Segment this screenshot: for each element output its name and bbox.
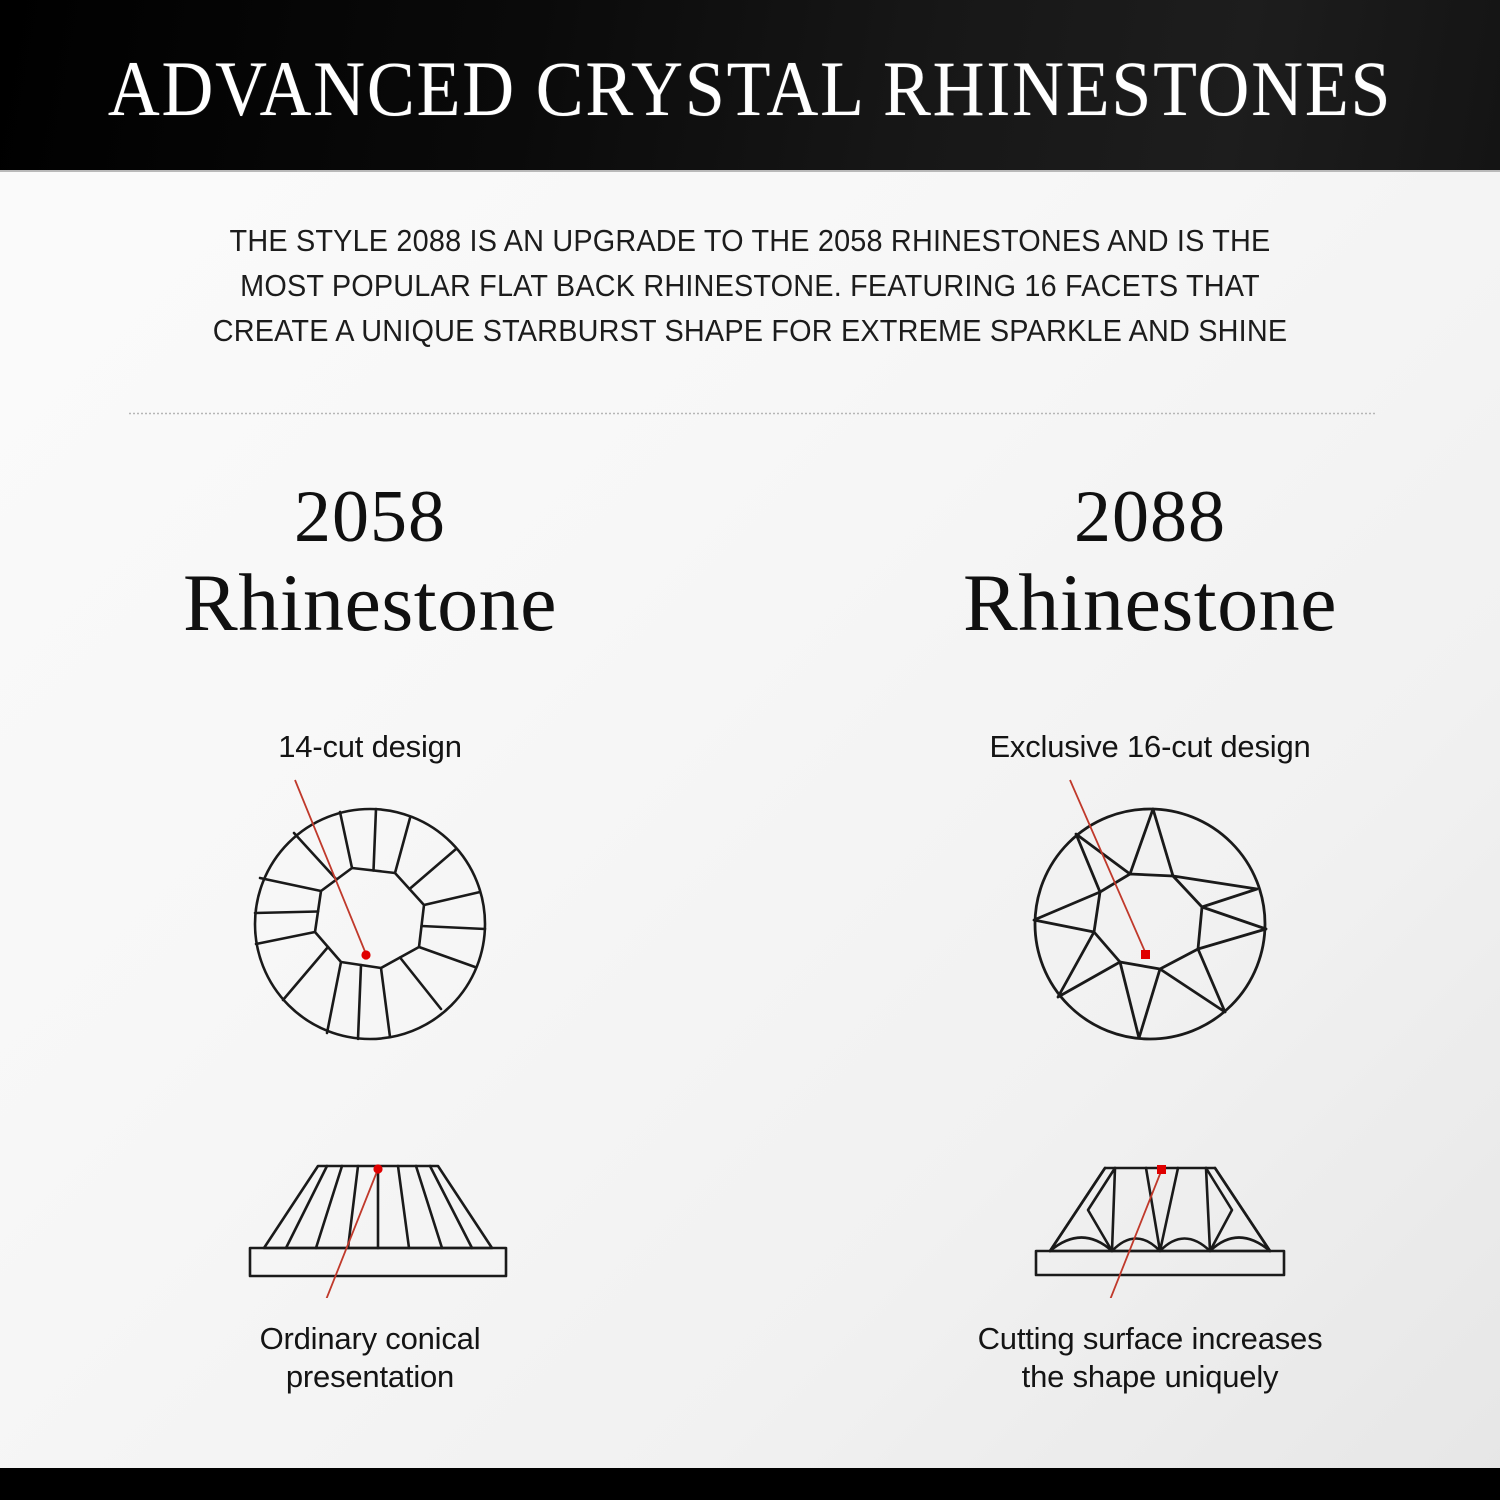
intro-paragraph: THE STYLE 2088 IS AN UPGRADE TO THE 2058… bbox=[155, 218, 1345, 353]
figure-sideview-2088 bbox=[840, 1148, 1460, 1298]
topview-2058-svg bbox=[190, 772, 550, 1052]
caption-2088-line-1: Cutting surface increases bbox=[840, 1320, 1460, 1358]
column-heading-2058: 2058 Rhinestone bbox=[60, 480, 680, 644]
outer-circle-2058 bbox=[255, 809, 485, 1039]
column-word-2088: Rhinestone bbox=[840, 562, 1460, 644]
base-plate-2058 bbox=[250, 1248, 506, 1276]
header-banner: ADVANCED CRYSTAL RHINESTONES bbox=[0, 0, 1500, 172]
column-number-2088: 2088 bbox=[840, 480, 1460, 554]
sideview-2058-svg bbox=[190, 1148, 550, 1298]
column-2058: 2058 Rhinestone 14-cut design bbox=[60, 480, 680, 1380]
caption-2058-line-2: presentation bbox=[60, 1358, 680, 1396]
topview-2088-svg bbox=[970, 772, 1330, 1052]
caption-2058-line-1: Ordinary conical bbox=[60, 1320, 680, 1358]
pointer-dot-2088 bbox=[1141, 950, 1150, 959]
caption-2088: Cutting surface increases the shape uniq… bbox=[840, 1320, 1460, 1396]
center-notch-2088 bbox=[1146, 1168, 1178, 1251]
figure-topview-2058 bbox=[60, 772, 680, 1052]
pointer-line-side-2058 bbox=[314, 1169, 378, 1298]
pointer-dot-side-2058 bbox=[373, 1164, 382, 1173]
column-heading-2088: 2088 Rhinestone bbox=[840, 480, 1460, 644]
figure-topview-2088 bbox=[840, 772, 1460, 1052]
pointer-dot-side-2088 bbox=[1157, 1165, 1166, 1174]
intro-line-1: THE STYLE 2088 IS AN UPGRADE TO THE 2058… bbox=[155, 218, 1345, 263]
column-number-2058: 2058 bbox=[60, 480, 680, 554]
dotted-divider bbox=[128, 412, 1376, 415]
caption-2058: Ordinary conical presentation bbox=[60, 1320, 680, 1396]
poster-canvas: ADVANCED CRYSTAL RHINESTONES THE STYLE 2… bbox=[0, 0, 1500, 1500]
intro-line-3: CREATE A UNIQUE STARBURST SHAPE FOR EXTR… bbox=[155, 308, 1345, 353]
sideview-2088-svg bbox=[970, 1148, 1330, 1298]
column-word-2058: Rhinestone bbox=[60, 562, 680, 644]
banner-underline bbox=[0, 170, 1500, 172]
intro-line-2: MOST POPULAR FLAT BACK RHINESTONE. FEATU… bbox=[155, 263, 1345, 308]
figure-sideview-2058 bbox=[60, 1148, 680, 1298]
top-label-2058: 14-cut design bbox=[60, 728, 680, 766]
top-label-2088: Exclusive 16-cut design bbox=[840, 728, 1460, 766]
base-plate-2088 bbox=[1036, 1251, 1284, 1275]
page-title: ADVANCED CRYSTAL RHINESTONES bbox=[108, 44, 1392, 128]
pointer-line-2088 bbox=[1070, 780, 1146, 954]
pointer-line-2058 bbox=[295, 780, 366, 954]
pointer-line-side-2088 bbox=[1098, 1169, 1162, 1298]
pointer-dot-2058 bbox=[361, 950, 370, 959]
caption-2088-line-2: the shape uniquely bbox=[840, 1358, 1460, 1396]
footer-bar bbox=[0, 1468, 1500, 1500]
column-2088: 2088 Rhinestone Exclusive 16-cut design bbox=[840, 480, 1460, 1380]
